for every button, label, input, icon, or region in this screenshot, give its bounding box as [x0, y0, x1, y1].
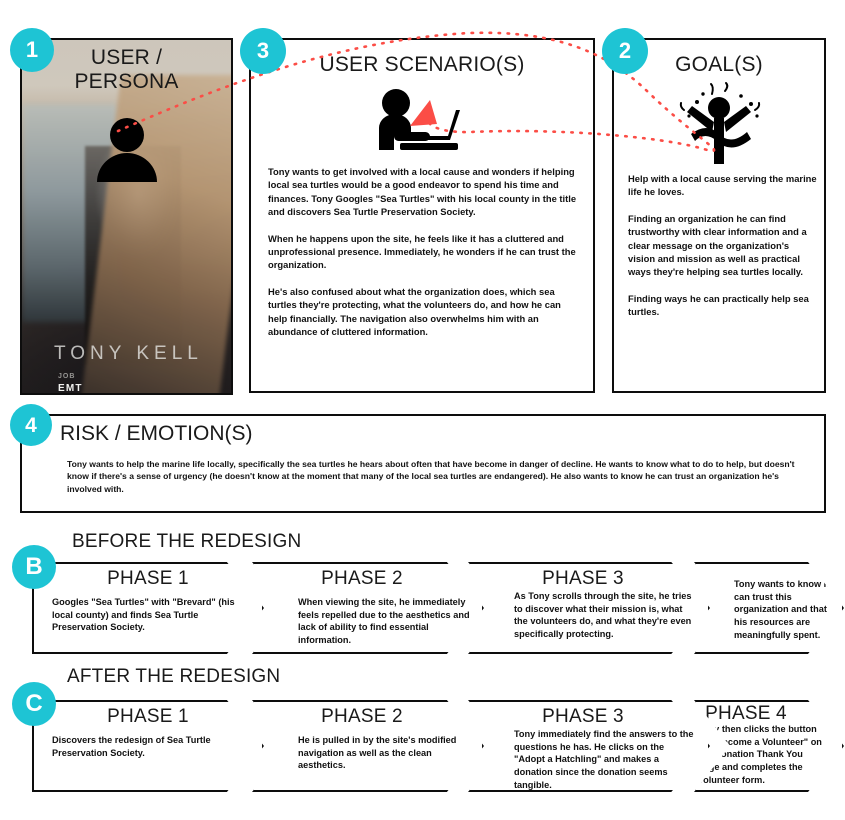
before-phase-3[interactable]: PHASE 3 As Tony scrolls through the site…: [468, 562, 710, 654]
badge-goal: 2: [602, 28, 648, 74]
after-phase-2[interactable]: PHASE 2 He is pulled in by the site's mo…: [252, 700, 484, 792]
celebrating-person-icon: [667, 82, 771, 168]
journey-map-canvas: USER / PERSONA TONY KELL JOB EMT 1 USER …: [0, 0, 845, 820]
user-persona-panel: USER / PERSONA TONY KELL JOB EMT: [20, 38, 233, 395]
user-scenario-panel: USER SCENARIO(S) Tony wants to get invol…: [249, 38, 595, 393]
after-redesign-row: PHASE 1 Discovers the redesign of Sea Tu…: [0, 700, 845, 792]
after-phase-3-text: Tony immediately find the answers to the…: [514, 728, 694, 791]
before-phase-1-label: PHASE 1: [34, 568, 262, 590]
before-phase-2-label: PHASE 2: [272, 568, 452, 590]
after-phase-4-text: Tony then clicks the button on "Become a…: [698, 723, 822, 786]
risk-emotions-text: Tony wants to help the marine life local…: [67, 458, 802, 495]
badge-risk: 4: [10, 404, 52, 446]
badge-after: C: [12, 682, 56, 726]
after-phase-1-label: PHASE 1: [34, 706, 262, 728]
badge-before: B: [12, 545, 56, 589]
user-scenario-title: USER SCENARIO(S): [251, 53, 593, 77]
after-phase-3-label: PHASE 3: [488, 706, 678, 728]
after-phase-3[interactable]: PHASE 3 Tony immediately find the answer…: [468, 700, 710, 792]
user-scenario-text: Tony wants to get involved with a local …: [268, 165, 580, 338]
goals-text: Help with a local cause serving the mari…: [628, 172, 818, 319]
before-phase-2-text: When viewing the site, he immediately fe…: [298, 596, 478, 647]
badge-scenario: 3: [240, 28, 286, 74]
persona-name: TONY KELL: [54, 343, 203, 365]
after-phase-2-text: He is pulled in by the site's modified n…: [298, 734, 478, 772]
before-phase-3-text: As Tony scrolls through the site, he tri…: [514, 590, 694, 641]
after-redesign-heading: AFTER THE REDESIGN: [67, 666, 280, 688]
before-phase-1[interactable]: PHASE 1 Googles "Sea Turtles" with "Brev…: [32, 562, 264, 654]
persona-job-label: JOB: [58, 373, 75, 380]
after-phase-1[interactable]: PHASE 1 Discovers the redesign of Sea Tu…: [32, 700, 264, 792]
before-phase-3-label: PHASE 3: [488, 568, 678, 590]
before-phase-2[interactable]: PHASE 2 When viewing the site, he immedi…: [252, 562, 484, 654]
badge-persona: 1: [10, 28, 54, 72]
persona-job-value: EMT: [58, 383, 83, 394]
before-phase-1-text: Googles "Sea Turtles" with "Brevard" (hi…: [52, 596, 238, 634]
after-phase-4-label: PHASE 4: [694, 703, 798, 725]
risk-emotions-panel: RISK / EMOTION(S) Tony wants to help the…: [20, 414, 826, 513]
before-redesign-heading: BEFORE THE REDESIGN: [72, 531, 301, 553]
person-at-laptop-icon: [374, 88, 470, 152]
after-phase-2-label: PHASE 2: [272, 706, 452, 728]
person-icon: [94, 118, 160, 182]
before-redesign-row: PHASE 1 Googles "Sea Turtles" with "Brev…: [0, 562, 845, 654]
before-phase-4[interactable]: Tony wants to know he can trust this org…: [694, 562, 844, 654]
after-phase-1-text: Discovers the redesign of Sea Turtle Pre…: [52, 734, 238, 759]
after-phase-4[interactable]: PHASE 4 Tony then clicks the button on "…: [694, 700, 844, 792]
risk-emotions-title: RISK / EMOTION(S): [60, 422, 253, 446]
before-phase-4-text: Tony wants to know he can trust this org…: [734, 578, 842, 641]
goals-panel: GOAL(S) Help w: [612, 38, 826, 393]
